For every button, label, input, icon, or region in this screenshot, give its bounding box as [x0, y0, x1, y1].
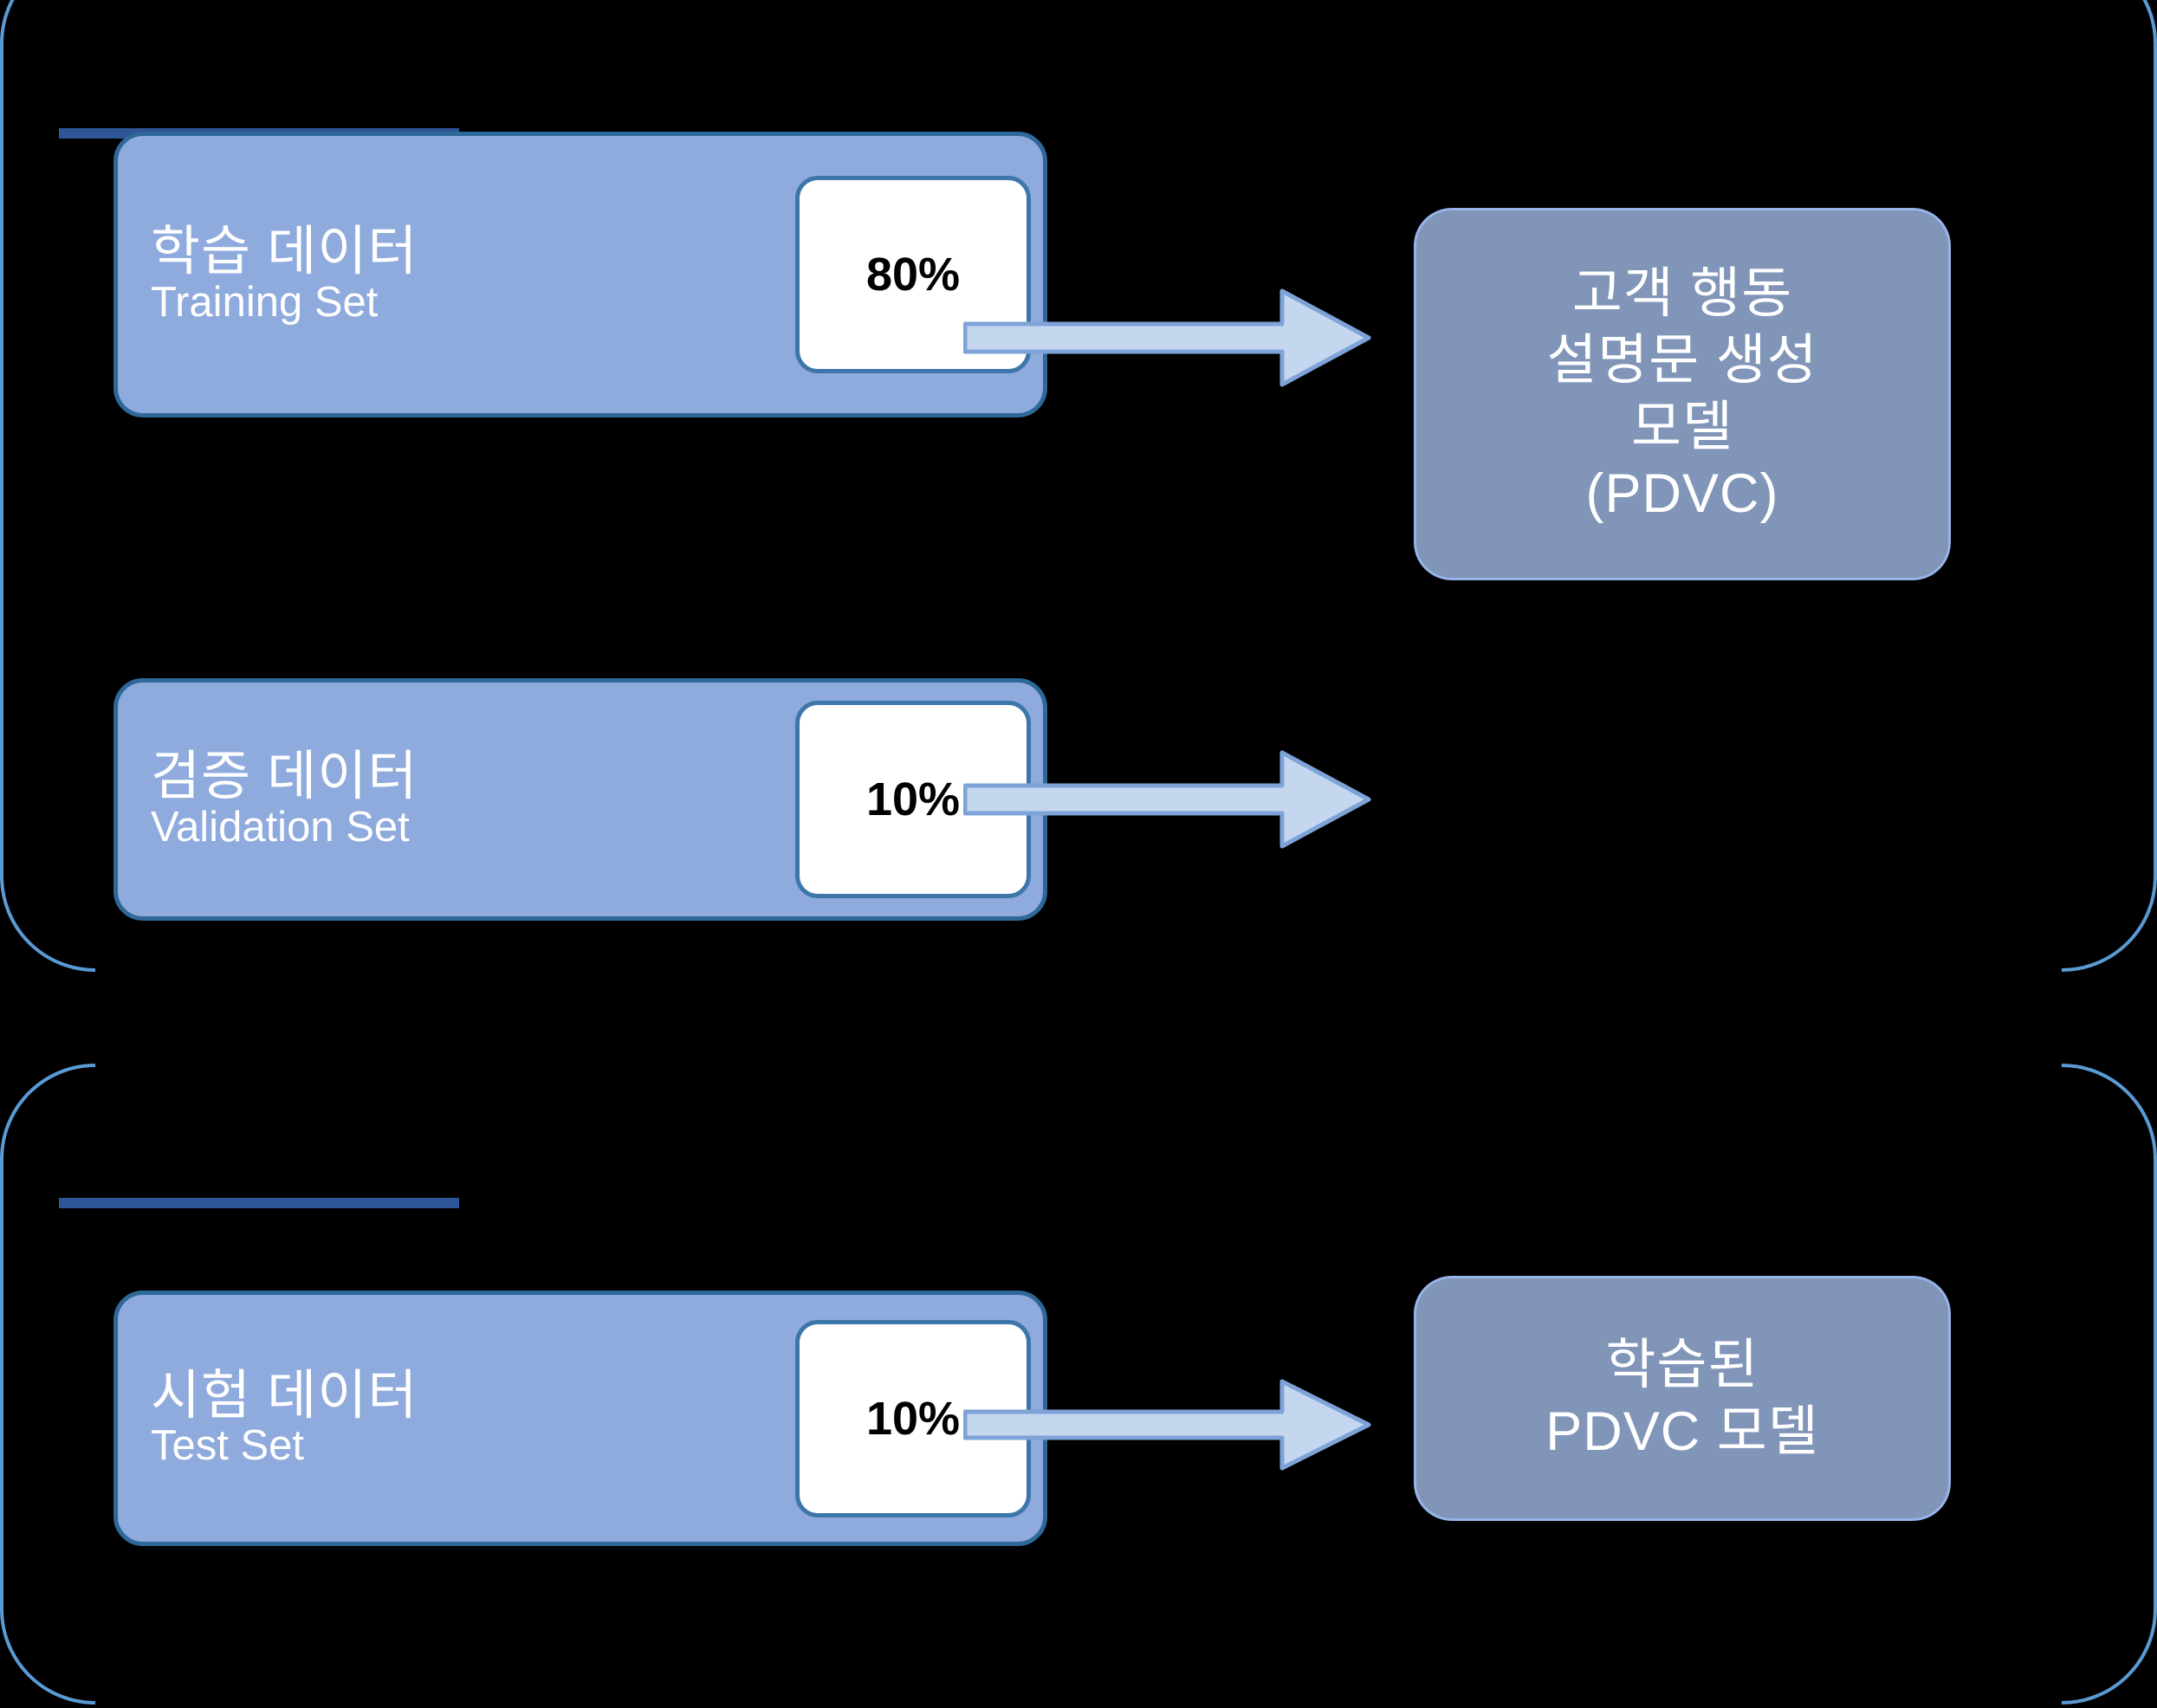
trained-pdvc-model-text: 학습된 PDVC 모델 — [1530, 1332, 1834, 1465]
trained-pdvc-model-box[interactable]: 학습된 PDVC 모델 — [1414, 1276, 1951, 1521]
pdvc-model-line-2: 설명문 생성 — [1546, 327, 1817, 394]
pdvc-model-text: 고객 행동 설명문 생성 모델 (PDVC) — [1531, 261, 1833, 527]
test-card-labels: 시험 데이터 Test Set — [118, 1368, 418, 1468]
test-percent-badge: 10% — [795, 1320, 1031, 1517]
pdvc-model-line-1: 고객 행동 — [1546, 261, 1817, 327]
validation-card-labels: 검증 데이터 Validation Set — [118, 749, 418, 849]
test-card-label-en: Test Set — [151, 1425, 418, 1468]
test-card-label-ko: 시험 데이터 — [151, 1368, 418, 1423]
training-card-label-ko: 학습 데이터 — [151, 224, 418, 279]
trained-pdvc-model-line-1: 학습된 — [1545, 1332, 1818, 1399]
validation-card-label-en: Validation Set — [151, 806, 418, 850]
testing-section-accent-bar — [59, 1198, 459, 1208]
frame-mask-bottom-top-edge — [95, 1060, 2062, 1083]
pdvc-model-line-4: (PDVC) — [1546, 461, 1817, 527]
pdvc-model-line-3: 모델 — [1546, 394, 1817, 461]
validation-data-card[interactable]: 검증 데이터 Validation Set 10% — [113, 678, 1047, 921]
training-percent-badge: 80% — [795, 176, 1031, 373]
diagram-canvas: 학습 데이터 Training Set 80% 검증 데이터 Validatio… — [0, 0, 2157, 1631]
training-card-labels: 학습 데이터 Training Set — [118, 224, 418, 324]
training-card-label-en: Training Set — [151, 281, 418, 325]
validation-card-label-ko: 검증 데이터 — [151, 749, 418, 804]
frame-mask-top-bottom-edge — [95, 951, 2062, 974]
training-data-card[interactable]: 학습 데이터 Training Set 80% — [113, 132, 1047, 417]
validation-percent-badge: 10% — [795, 701, 1031, 898]
test-data-card[interactable]: 시험 데이터 Test Set 10% — [113, 1291, 1047, 1546]
trained-pdvc-model-line-2: PDVC 모델 — [1545, 1399, 1818, 1465]
frame-mask-bottom-bottom-edge — [95, 1685, 2062, 1708]
pdvc-model-box[interactable]: 고객 행동 설명문 생성 모델 (PDVC) — [1414, 208, 1951, 580]
